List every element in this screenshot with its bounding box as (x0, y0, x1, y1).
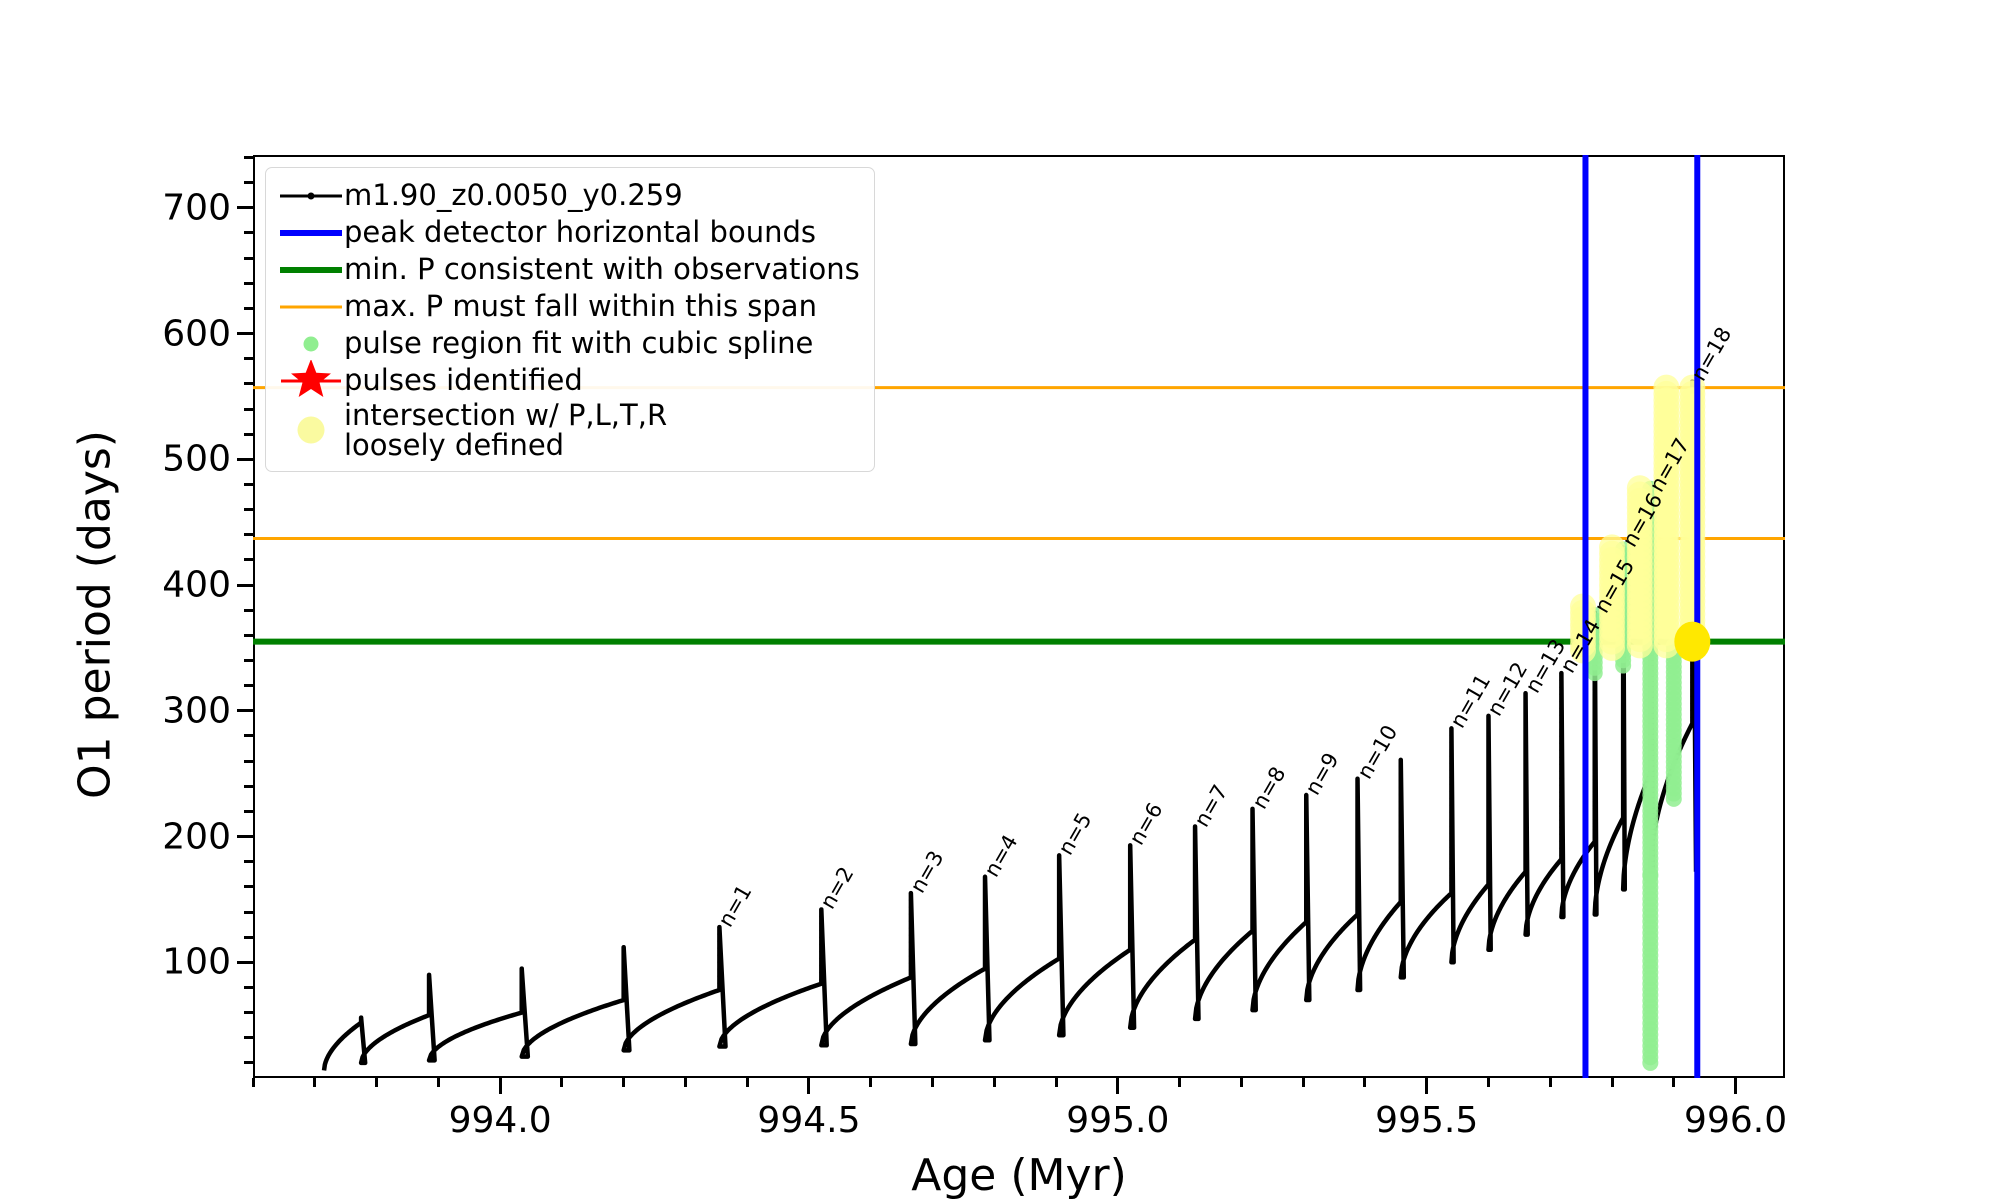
data-point-marker (909, 891, 913, 895)
data-point-marker (1251, 870, 1255, 874)
data-point-marker (1251, 863, 1255, 867)
data-point-marker (1486, 756, 1490, 760)
data-point-marker (1621, 790, 1625, 794)
data-point-marker (1559, 804, 1563, 808)
data-point-marker (1524, 852, 1528, 856)
data-point-marker (1593, 730, 1597, 734)
data-point-marker (1559, 720, 1563, 724)
data-point-marker (1524, 726, 1528, 730)
data-point-marker (983, 966, 987, 970)
data-point-marker (359, 1016, 363, 1020)
y-axis-minor-tick (244, 1036, 253, 1039)
data-point-marker (1621, 699, 1625, 703)
data-point-marker (1193, 839, 1197, 843)
data-point-marker (1486, 770, 1490, 774)
data-point-marker (1593, 765, 1597, 769)
x-axis-minor-tick (1549, 1078, 1552, 1087)
data-point-marker (1356, 812, 1360, 816)
data-point-marker (1399, 807, 1403, 811)
data-point-marker (1399, 814, 1403, 818)
data-point-marker (1559, 846, 1563, 850)
y-axis-tick (237, 961, 253, 964)
data-point-marker (1304, 814, 1308, 818)
data-point-marker (1193, 825, 1197, 829)
data-point-marker (1524, 775, 1528, 779)
data-point-marker (1057, 930, 1061, 934)
data-point-marker (1356, 868, 1360, 872)
data-point-marker (1593, 786, 1597, 790)
data-point-marker (1524, 761, 1528, 765)
data-point-marker (1486, 847, 1490, 851)
x-axis-title: Age (Myr) (253, 1150, 1785, 1201)
x-axis-tick (499, 1078, 502, 1094)
data-point-marker (1621, 769, 1625, 773)
legend-line (280, 230, 342, 236)
y-axis-minor-tick (244, 609, 253, 612)
data-point-marker (1486, 791, 1490, 795)
data-point-marker (819, 914, 823, 918)
legend-item[interactable]: intersection w/ P,L,T,R loosely defined (278, 399, 860, 461)
data-point-marker (1399, 898, 1403, 902)
data-point-marker (1449, 782, 1453, 786)
x-axis-tick (1116, 1078, 1119, 1094)
data-point-marker (1128, 864, 1132, 868)
y-axis-tick-label: 700 (103, 187, 231, 228)
y-axis-minor-tick (244, 433, 253, 436)
data-point-marker (1057, 909, 1061, 913)
data-point-marker (1193, 937, 1197, 941)
data-point-marker (427, 994, 431, 998)
y-axis-minor-tick (244, 156, 253, 159)
legend-line (280, 305, 342, 308)
data-point-marker (1251, 835, 1255, 839)
x-axis-tick-label: 996.0 (1684, 1100, 1787, 1141)
data-point-marker (1559, 797, 1563, 801)
data-point-marker (1559, 783, 1563, 787)
data-point-marker (1621, 811, 1625, 815)
data-series-line (324, 381, 1696, 1070)
data-point-marker (1449, 873, 1453, 877)
data-point-marker (1486, 868, 1490, 872)
data-point-marker (1251, 891, 1255, 895)
data-point-marker (1449, 775, 1453, 779)
data-point-marker (1559, 685, 1563, 689)
y-axis-minor-tick (244, 810, 253, 813)
legend-item[interactable]: m1.90_z0.0050_y0.259 (278, 177, 860, 214)
x-axis-tick-label: 994.0 (449, 1100, 552, 1141)
data-point-marker (1399, 779, 1403, 783)
data-point-marker (1621, 776, 1625, 780)
data-point-marker (1524, 845, 1528, 849)
data-point-marker (1449, 859, 1453, 863)
data-point-marker (1193, 832, 1197, 836)
data-point-marker (520, 995, 524, 999)
y-axis-tick (237, 332, 253, 335)
data-point-marker (1559, 734, 1563, 738)
data-point-marker (1559, 748, 1563, 752)
data-point-marker (717, 939, 721, 943)
y-axis-title: O1 period (days) (70, 354, 121, 874)
data-point-marker (1057, 902, 1061, 906)
data-point-marker (1559, 706, 1563, 710)
data-point-marker (1593, 716, 1597, 720)
x-axis-minor-tick (252, 1078, 255, 1087)
data-point-marker (1559, 727, 1563, 731)
data-point-marker (1193, 881, 1197, 885)
data-point-marker (1593, 814, 1597, 818)
data-point-marker (1593, 695, 1597, 699)
data-point-marker (1524, 705, 1528, 709)
data-point-marker (1128, 920, 1132, 924)
data-point-marker (1449, 740, 1453, 744)
y-axis-minor-tick (244, 986, 253, 989)
data-point-marker (1356, 875, 1360, 879)
data-point-marker (1304, 905, 1308, 909)
data-point-marker (1399, 828, 1403, 832)
data-point-marker (1304, 842, 1308, 846)
y-axis-minor-tick (244, 357, 253, 360)
data-point-marker (819, 977, 823, 981)
legend-item-label: intersection w/ P,L,T,R loosely defined (344, 400, 667, 460)
y-axis-tick-label: 300 (103, 690, 231, 731)
data-point-marker (1486, 784, 1490, 788)
data-point-marker (1399, 772, 1403, 776)
data-point-marker (1449, 824, 1453, 828)
y-axis-minor-tick (244, 231, 253, 234)
data-point-marker (1057, 874, 1061, 878)
data-point-marker (1559, 853, 1563, 857)
x-axis-minor-tick (1178, 1078, 1181, 1087)
data-point-marker (1486, 777, 1490, 781)
data-point-marker (909, 968, 913, 972)
data-point-marker (1593, 793, 1597, 797)
legend-item[interactable]: peak detector horizontal bounds (278, 214, 860, 251)
data-point-marker (1251, 828, 1255, 832)
data-point-marker (1251, 807, 1255, 811)
x-axis-minor-tick (993, 1078, 996, 1087)
data-point-marker (819, 949, 823, 953)
data-point-marker (427, 980, 431, 984)
data-point-marker (983, 924, 987, 928)
data-point-marker (1621, 706, 1625, 710)
data-point-marker (1449, 831, 1453, 835)
y-axis-minor-tick (244, 483, 253, 486)
y-axis-minor-tick (244, 408, 253, 411)
data-point-marker (909, 912, 913, 916)
data-point-marker (1356, 889, 1360, 893)
data-point-marker (1304, 856, 1308, 860)
data-point-marker (1449, 789, 1453, 793)
data-point-marker (909, 940, 913, 944)
data-point-marker (1559, 713, 1563, 717)
data-point-marker (1524, 712, 1528, 716)
data-point-marker (1690, 666, 1694, 670)
data-point-marker (520, 1002, 524, 1006)
data-point-marker (1057, 888, 1061, 892)
legend-dot (298, 417, 325, 444)
data-point-marker (1559, 755, 1563, 759)
data-point-marker (1128, 878, 1132, 882)
x-axis-minor-tick (1055, 1078, 1058, 1087)
data-point-marker (1486, 742, 1490, 746)
data-point-marker (1621, 692, 1625, 696)
data-point-marker (1356, 784, 1360, 788)
data-point-marker (1399, 870, 1403, 874)
data-point-marker (717, 967, 721, 971)
data-point-marker (1621, 741, 1625, 745)
x-axis-minor-tick (375, 1078, 378, 1087)
data-point-marker (1193, 902, 1197, 906)
data-point-marker (1690, 701, 1694, 705)
data-point-marker (520, 981, 524, 985)
data-point-marker (983, 903, 987, 907)
data-point-marker (1621, 762, 1625, 766)
data-point-marker (1356, 826, 1360, 830)
y-axis-tick (237, 709, 253, 712)
data-point-marker (1356, 791, 1360, 795)
data-point-marker (1057, 895, 1061, 899)
data-point-marker (1399, 758, 1403, 762)
data-point-marker (819, 956, 823, 960)
data-point-marker (1193, 930, 1197, 934)
data-point-marker (622, 980, 626, 984)
data-point-marker (1251, 877, 1255, 881)
y-axis-tick (237, 835, 253, 838)
data-point-marker (1193, 853, 1197, 857)
data-point-marker (1486, 728, 1490, 732)
data-point-marker (1399, 800, 1403, 804)
data-point-marker (1399, 786, 1403, 790)
data-point-marker (1621, 685, 1625, 689)
data-point-marker (1593, 702, 1597, 706)
data-point-marker (717, 974, 721, 978)
x-axis-minor-tick (931, 1078, 934, 1087)
data-point-marker (1690, 694, 1694, 698)
data-point-marker (1057, 853, 1061, 857)
data-point-marker (1486, 749, 1490, 753)
data-point-marker (622, 945, 626, 949)
data-point-marker (1593, 688, 1597, 692)
x-axis-minor-tick (437, 1078, 440, 1087)
data-point-marker (1057, 951, 1061, 955)
data-point-marker (1304, 891, 1308, 895)
data-point-marker (909, 926, 913, 930)
chart-legend: m1.90_z0.0050_y0.259peak detector horizo… (265, 167, 875, 472)
data-point-marker (983, 945, 987, 949)
data-point-marker (1304, 821, 1308, 825)
data-point-marker (1304, 800, 1308, 804)
data-point-marker (1251, 821, 1255, 825)
data-point-marker (1559, 678, 1563, 682)
data-point-marker (1057, 860, 1061, 864)
data-point-marker (1559, 818, 1563, 822)
data-point-marker (1593, 723, 1597, 727)
data-point-marker (1524, 733, 1528, 737)
data-point-marker (1486, 714, 1490, 718)
data-point-marker (1128, 913, 1132, 917)
data-point-marker (983, 959, 987, 963)
data-point-marker (717, 960, 721, 964)
data-point-marker (1621, 720, 1625, 724)
data-point-marker (1356, 798, 1360, 802)
data-point-marker (1524, 698, 1528, 702)
data-point-marker (983, 910, 987, 914)
intersection-point (1674, 622, 1710, 662)
data-point-marker (1486, 735, 1490, 739)
data-point-marker (1621, 713, 1625, 717)
data-point-marker (1251, 842, 1255, 846)
x-axis-tick-label: 995.0 (1066, 1100, 1169, 1141)
data-point-marker (1486, 798, 1490, 802)
data-point-marker (427, 1008, 431, 1012)
data-point-marker (1593, 737, 1597, 741)
legend-item[interactable]: max. P must fall within this span (278, 288, 860, 325)
y-axis-minor-tick (244, 181, 253, 184)
data-point-marker (1399, 793, 1403, 797)
data-point-marker (909, 933, 913, 937)
data-point-marker (1128, 941, 1132, 945)
data-point-marker (1559, 790, 1563, 794)
x-axis-minor-tick (1672, 1078, 1675, 1087)
data-point-marker (1559, 671, 1563, 675)
data-point-marker (717, 932, 721, 936)
data-point-marker (622, 987, 626, 991)
data-point-marker (1356, 910, 1360, 914)
data-point-marker (427, 1001, 431, 1005)
data-point-marker (717, 925, 721, 929)
data-point-marker (1399, 891, 1403, 895)
data-point-marker (983, 931, 987, 935)
chart-figure: O1 period (days) Age (Myr) m1.90_z0.0050… (0, 0, 2000, 1200)
x-axis-minor-tick (1487, 1078, 1490, 1087)
data-point-marker (1449, 845, 1453, 849)
legend-item-label: max. P must fall within this span (344, 291, 817, 321)
data-point-marker (520, 988, 524, 992)
data-point-marker (1690, 687, 1694, 691)
data-point-marker (1399, 842, 1403, 846)
data-point-marker (1356, 833, 1360, 837)
data-point-marker (1524, 838, 1528, 842)
data-point-marker (1356, 777, 1360, 781)
data-point-marker (1524, 810, 1528, 814)
data-point-marker (1193, 874, 1197, 878)
data-point-marker (983, 938, 987, 942)
data-point-marker (1251, 814, 1255, 818)
legend-key-thin-line-icon (278, 288, 344, 325)
y-axis-tick-label: 500 (103, 439, 231, 480)
data-point-marker (1559, 832, 1563, 836)
data-point-marker (909, 905, 913, 909)
data-point-marker (1449, 810, 1453, 814)
data-point-marker (819, 907, 823, 911)
data-point-marker (1128, 934, 1132, 938)
data-point-marker (1593, 800, 1597, 804)
legend-item[interactable]: pulse region fit with cubic spline (278, 325, 860, 362)
data-point-marker (983, 952, 987, 956)
data-point-marker (1593, 779, 1597, 783)
legend-item[interactable]: pulses identified (278, 362, 860, 399)
data-point-marker (1524, 866, 1528, 870)
data-point-marker (1621, 748, 1625, 752)
x-axis-tick (807, 1078, 810, 1094)
data-point-marker (1593, 709, 1597, 713)
data-point-marker (909, 954, 913, 958)
data-point-marker (1593, 807, 1597, 811)
data-point-marker (1486, 840, 1490, 844)
y-axis-minor-tick (244, 860, 253, 863)
data-point-marker (520, 1009, 524, 1013)
legend-item-label: pulse region fit with cubic spline (344, 328, 813, 358)
data-point-marker (1486, 812, 1490, 816)
y-axis-minor-tick (244, 684, 253, 687)
data-point-marker (1559, 776, 1563, 780)
y-axis-minor-tick (244, 885, 253, 888)
data-point-marker (622, 994, 626, 998)
y-axis-minor-tick (244, 1061, 253, 1064)
data-point-marker (1193, 909, 1197, 913)
data-point-marker (1356, 847, 1360, 851)
y-axis-minor-tick (244, 659, 253, 662)
x-axis-minor-tick (560, 1078, 563, 1087)
x-axis-minor-tick (1363, 1078, 1366, 1087)
x-axis-minor-tick (746, 1078, 749, 1087)
data-point-marker (1399, 856, 1403, 860)
intersection-marker (1653, 375, 1679, 401)
data-point-marker (717, 981, 721, 985)
data-point-marker (1524, 740, 1528, 744)
legend-item[interactable]: min. P consistent with observations (278, 251, 860, 288)
legend-key-thick-line-icon (278, 214, 344, 251)
legend-key-black-line-marker-icon (278, 177, 344, 214)
x-axis-minor-tick (313, 1078, 316, 1087)
data-point-marker (1621, 727, 1625, 731)
data-point-marker (1486, 882, 1490, 886)
data-point-marker (1128, 906, 1132, 910)
data-point-marker (1559, 811, 1563, 815)
data-point-marker (1399, 821, 1403, 825)
data-point-marker (1304, 898, 1308, 902)
x-axis-tick (1425, 1078, 1428, 1094)
data-point-marker (819, 970, 823, 974)
y-axis-minor-tick (244, 382, 253, 385)
data-point-marker (1449, 768, 1453, 772)
data-point-marker (1399, 877, 1403, 881)
data-point-marker (1193, 867, 1197, 871)
data-point-marker (1304, 919, 1308, 923)
data-point-marker (1593, 835, 1597, 839)
data-point-marker (1251, 919, 1255, 923)
data-point-marker (1524, 803, 1528, 807)
data-point-marker (1193, 846, 1197, 850)
data-point-marker (1690, 715, 1694, 719)
data-point-marker (1356, 882, 1360, 886)
data-point-marker (1524, 796, 1528, 800)
data-point-marker (1486, 805, 1490, 809)
data-point-marker (1057, 944, 1061, 948)
y-axis-minor-tick (244, 911, 253, 914)
data-point-marker (1449, 733, 1453, 737)
data-point-marker (1128, 927, 1132, 931)
legend-item-label: m1.90_z0.0050_y0.259 (344, 180, 683, 210)
data-point-marker (819, 963, 823, 967)
data-point-marker (1449, 866, 1453, 870)
y-axis-minor-tick (244, 936, 253, 939)
data-point-marker (1559, 692, 1563, 696)
data-point-marker (1304, 884, 1308, 888)
data-point-marker (1593, 744, 1597, 748)
data-point-marker (1128, 885, 1132, 889)
legend-key-small-dot-icon (278, 325, 344, 362)
